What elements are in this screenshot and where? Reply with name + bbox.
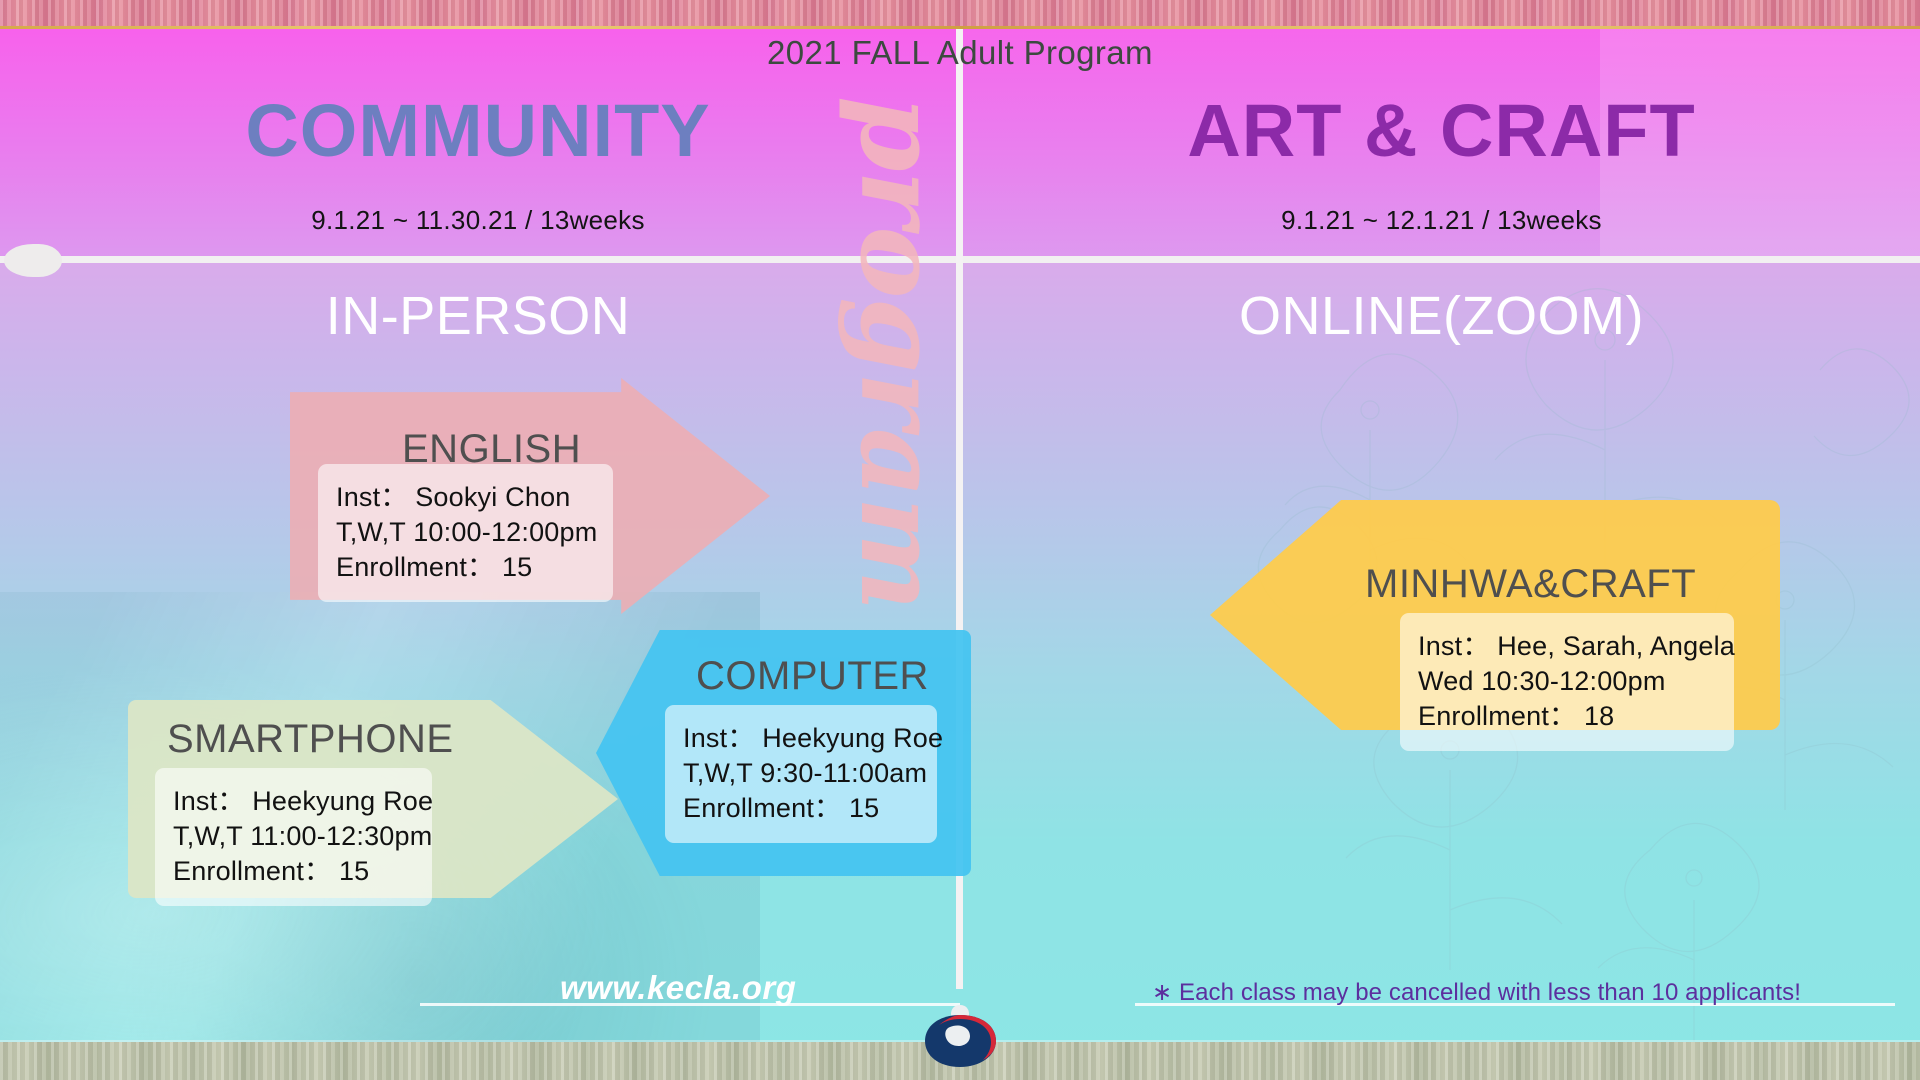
course-card-english: Inst： Sookyi Chon T,W,T 10:00-12:00pm En… — [318, 464, 613, 602]
program-poster: 2021 FALL Adult Program COMMUNITY ART & … — [0, 0, 1920, 1080]
course-instructor-smartphone: Inst： Heekyung Roe — [173, 784, 414, 819]
top-fabric-border — [0, 0, 1920, 26]
column-dates-artcraft: 9.1.21 ~ 12.1.21 / 13weeks — [963, 205, 1920, 236]
website-url[interactable]: www.kecla.org — [560, 969, 796, 1007]
course-enrollment-minhwa: Enrollment： 18 — [1418, 699, 1716, 734]
cancellation-footnote: ∗ Each class may be cancelled with less … — [1152, 978, 1801, 1007]
course-schedule-smartphone: T,W,T 11:00-12:30pm — [173, 819, 414, 854]
mode-title-in-person: IN-PERSON — [0, 285, 956, 347]
divider-pin-icon — [4, 244, 62, 277]
column-title-artcraft: ART & CRAFT — [963, 88, 1920, 173]
course-schedule-minhwa: Wed 10:30-12:00pm — [1418, 664, 1716, 699]
program-watermark: program — [836, 96, 962, 610]
program-label: 2021 FALL Adult Program — [0, 34, 1920, 72]
course-schedule-english: T,W,T 10:00-12:00pm — [336, 515, 595, 550]
course-instructor-minhwa: Inst： Hee, Sarah, Angela — [1418, 629, 1716, 664]
course-instructor-english: Inst： Sookyi Chon — [336, 480, 595, 515]
taegeuk-logo-icon — [920, 1005, 1000, 1067]
course-card-computer: Inst： Heekyung Roe T,W,T 9:30-11:00am En… — [665, 705, 937, 843]
course-enrollment-smartphone: Enrollment： 15 — [173, 854, 414, 889]
column-title-community: COMMUNITY — [0, 88, 956, 173]
course-card-minhwa: Inst： Hee, Sarah, Angela Wed 10:30-12:00… — [1400, 613, 1734, 751]
course-enrollment-computer: Enrollment： 15 — [683, 791, 919, 826]
course-label-minhwa: MINHWA&CRAFT — [1365, 562, 1696, 607]
column-dates-community: 9.1.21 ~ 11.30.21 / 13weeks — [0, 205, 956, 236]
course-instructor-computer: Inst： Heekyung Roe — [683, 721, 919, 756]
course-card-smartphone: Inst： Heekyung Roe T,W,T 11:00-12:30pm E… — [155, 768, 432, 906]
course-label-computer: COMPUTER — [696, 654, 929, 699]
course-schedule-computer: T,W,T 9:30-11:00am — [683, 756, 919, 791]
course-enrollment-english: Enrollment： 15 — [336, 550, 595, 585]
mode-title-online-zoom: ONLINE(ZOOM) — [963, 285, 1920, 347]
course-label-smartphone: SMARTPHONE — [167, 717, 454, 762]
